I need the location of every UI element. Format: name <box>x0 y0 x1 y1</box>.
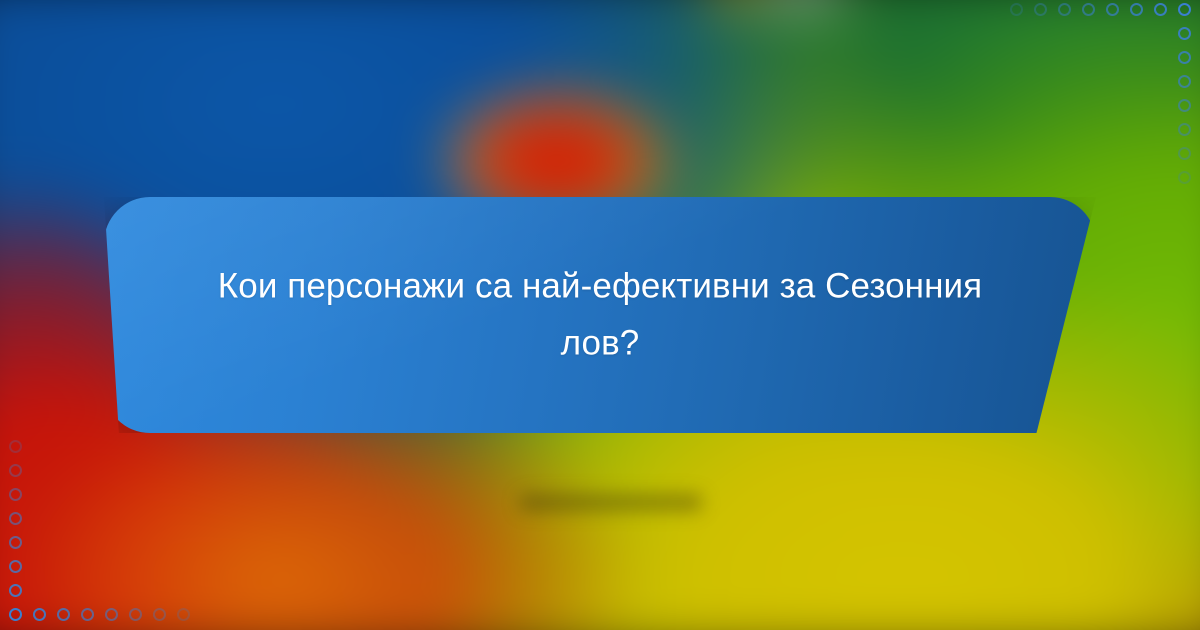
dot <box>1082 3 1095 16</box>
dot <box>1178 51 1191 64</box>
dot <box>81 608 94 621</box>
dot <box>1058 3 1071 16</box>
question-card[interactable]: Кои персонажи са най-ефективни за Сезонн… <box>104 197 1096 433</box>
dot <box>9 512 22 525</box>
dot <box>1178 75 1191 88</box>
dot <box>9 560 22 573</box>
dot <box>1178 123 1191 136</box>
question-text: Кои персонажи са най-ефективни за Сезонн… <box>104 258 1096 371</box>
dot <box>1154 3 1167 16</box>
dot <box>33 608 46 621</box>
dot <box>1106 3 1119 16</box>
dot <box>9 584 22 597</box>
dot <box>1178 3 1191 16</box>
dot <box>1178 27 1191 40</box>
dot <box>153 608 166 621</box>
poster-canvas: Кои персонажи са най-ефективни за Сезонн… <box>0 0 1200 630</box>
dot <box>1034 3 1047 16</box>
dot <box>1178 147 1191 160</box>
dot <box>1010 3 1023 16</box>
dot <box>9 536 22 549</box>
dot <box>1130 3 1143 16</box>
dot <box>129 608 142 621</box>
dot <box>9 608 22 621</box>
dot <box>57 608 70 621</box>
dot <box>9 464 22 477</box>
dot <box>9 440 22 453</box>
blurred-background-text-smudge <box>520 494 702 511</box>
dot <box>1178 171 1191 184</box>
dot <box>1178 99 1191 112</box>
dot <box>9 488 22 501</box>
dot <box>105 608 118 621</box>
dot <box>177 608 190 621</box>
